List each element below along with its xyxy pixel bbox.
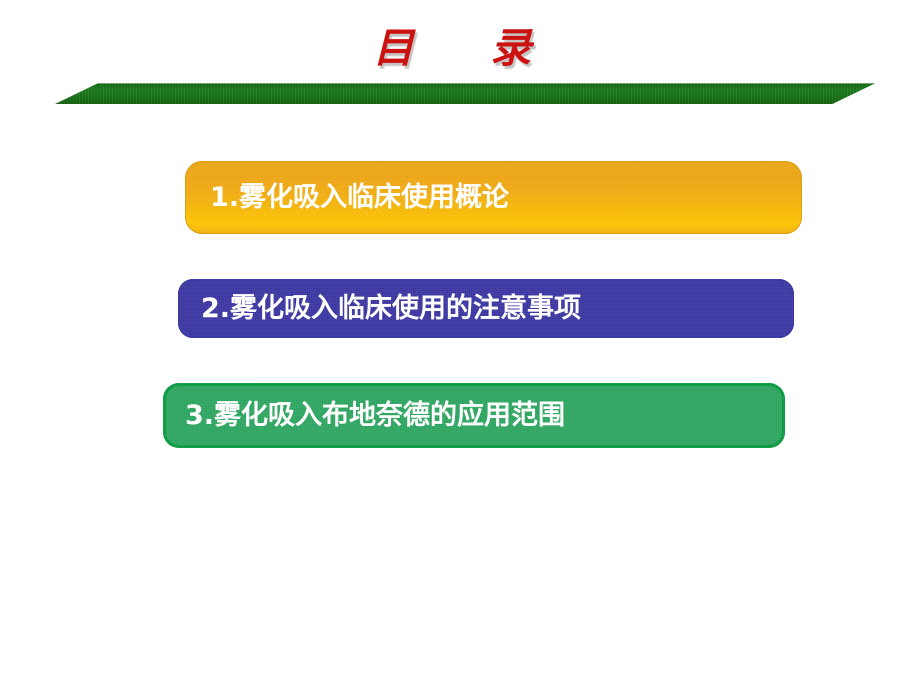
page-title: 目 录 bbox=[0, 26, 920, 71]
agenda-item-3-label: 3.雾化吸入布地奈德的应用范围 bbox=[185, 402, 565, 429]
agenda-item-3[interactable]: 3.雾化吸入布地奈德的应用范围 bbox=[163, 383, 785, 448]
agenda-item-1-label: 1.雾化吸入临床使用概论 bbox=[210, 184, 509, 211]
agenda-item-1[interactable]: 1.雾化吸入临床使用概论 bbox=[185, 161, 802, 234]
title-underline-banner bbox=[55, 80, 875, 110]
agenda-item-2[interactable]: 2.雾化吸入临床使用的注意事项 bbox=[178, 279, 794, 338]
agenda-item-2-label: 2.雾化吸入临床使用的注意事项 bbox=[201, 295, 581, 322]
green-divider-bar bbox=[55, 80, 875, 104]
slide-canvas: 目 录 1.雾化吸入临床使用概论 2.雾化吸入临床使用的注意事项 3.雾化吸入布… bbox=[0, 0, 920, 690]
